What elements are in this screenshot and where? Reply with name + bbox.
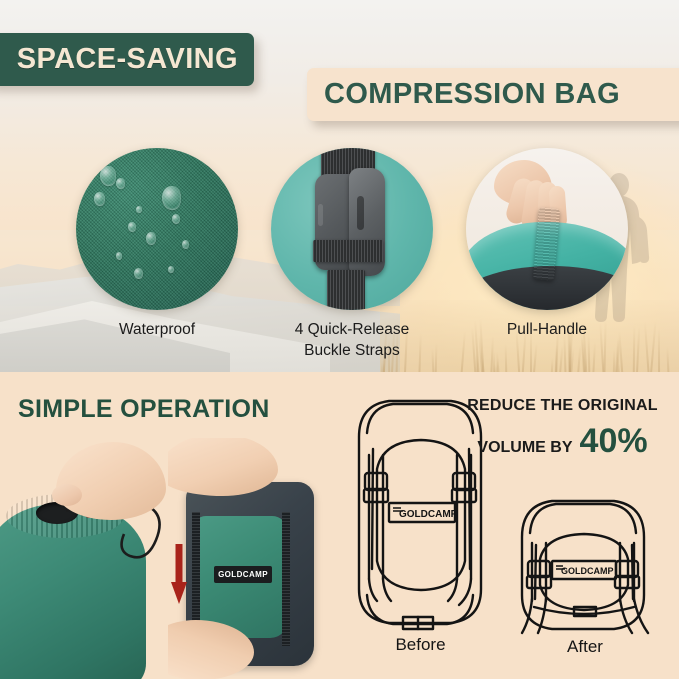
reduce-headline: REDUCE THE ORIGINAL xyxy=(455,397,670,415)
grass-streak xyxy=(533,343,538,372)
grass-streak xyxy=(460,331,466,372)
banner-space-saving: SPACE-SAVING xyxy=(0,33,254,86)
feature-waterproof-caption-line1: Waterproof xyxy=(76,319,238,340)
svg-text:GOLDCAMP: GOLDCAMP xyxy=(561,566,614,576)
infographic-page: SPACE-SAVING COMPRESSION BAG Wa xyxy=(0,0,679,679)
hand-holding-top xyxy=(168,438,278,496)
grass-streak xyxy=(667,347,670,372)
thumb xyxy=(52,484,82,506)
pull-handle-image xyxy=(466,148,628,310)
feature-buckle-caption-line1: 4 Quick-Release xyxy=(271,319,433,340)
operation-step-1-image xyxy=(0,438,168,679)
operation-step-2-image: GOLDCAMP xyxy=(168,438,343,679)
buckle-strap-image xyxy=(271,148,433,310)
diagram-after: GOLDCAMP After xyxy=(500,487,670,657)
before-caption: Before xyxy=(343,635,498,655)
reduce-percent-value: 40% xyxy=(580,424,648,458)
after-bag-line-art: GOLDCAMP xyxy=(500,487,670,635)
feature-waterproof: Waterproof xyxy=(76,148,238,340)
feature-pull-handle-caption: Pull-Handle xyxy=(466,319,628,340)
top-feature-section: SPACE-SAVING COMPRESSION BAG Wa xyxy=(0,0,679,372)
simple-operation-title: SIMPLE OPERATION xyxy=(18,395,270,424)
grass-streak xyxy=(434,343,437,372)
down-arrow-icon xyxy=(170,544,188,606)
hand-pulling-cord xyxy=(56,442,166,520)
grass-streak xyxy=(505,344,508,372)
feature-buckle-caption: 4 Quick-Release Buckle Straps xyxy=(271,319,433,361)
volume-reduction-text: REDUCE THE ORIGINAL VOLUME BY 40% xyxy=(455,397,670,458)
after-caption: After xyxy=(500,637,670,657)
compression-strap-right xyxy=(282,512,290,646)
svg-text:GOLDCAMP: GOLDCAMP xyxy=(399,509,458,520)
grass-streak xyxy=(559,345,564,372)
feature-pull-handle: Pull-Handle xyxy=(466,148,628,340)
banner-compression-bag: COMPRESSION BAG xyxy=(307,68,679,121)
bag-brand-label: GOLDCAMP xyxy=(214,566,272,583)
waterproof-fabric-image xyxy=(76,148,238,310)
banner-space-saving-text: SPACE-SAVING xyxy=(17,43,238,76)
feature-buckle-caption-line2: Buckle Straps xyxy=(271,340,433,361)
feature-pull-handle-caption-line1: Pull-Handle xyxy=(466,319,628,340)
reduce-volume-label: VOLUME BY xyxy=(477,439,572,457)
banner-compression-bag-text: COMPRESSION BAG xyxy=(324,78,620,111)
feature-buckle: 4 Quick-Release Buckle Straps xyxy=(271,148,433,361)
reduce-subline: VOLUME BY 40% xyxy=(455,424,670,458)
feature-waterproof-caption: Waterproof xyxy=(76,319,238,340)
grass-streak xyxy=(551,358,554,372)
